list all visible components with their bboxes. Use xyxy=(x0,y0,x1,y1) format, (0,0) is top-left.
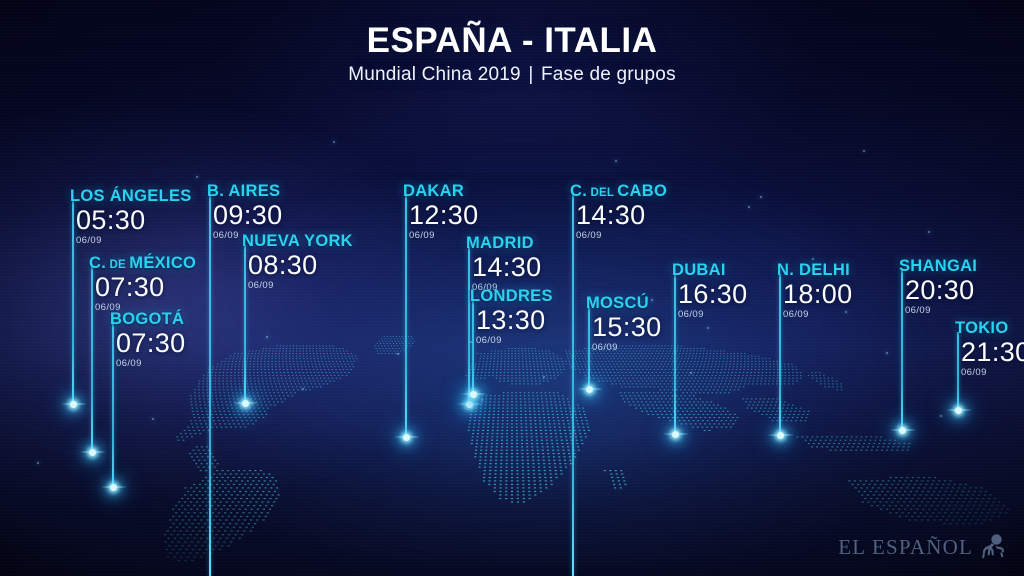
brand-logo: EL ESPAÑOL xyxy=(838,532,1008,562)
city-pin-dot xyxy=(403,434,410,441)
lion-icon xyxy=(978,532,1008,562)
city-pin-dot xyxy=(899,427,906,434)
city-pin-dot xyxy=(955,407,962,414)
city-pin-line xyxy=(72,200,74,404)
city-pin-dot xyxy=(242,400,249,407)
city-pin-line xyxy=(901,270,903,430)
city-pin-dot xyxy=(466,401,473,408)
background-vignette xyxy=(0,0,1024,576)
city-pin-line xyxy=(779,274,781,435)
city-pin-dot xyxy=(672,431,679,438)
city-pin-line xyxy=(957,332,959,410)
city-pin-line xyxy=(405,195,407,437)
city-pin-line xyxy=(91,266,93,452)
city-pin-line xyxy=(468,247,470,404)
city-pin-line xyxy=(209,195,211,576)
city-pin-line xyxy=(244,245,246,403)
city-pin-dot xyxy=(470,391,477,398)
city-pin-line xyxy=(572,195,574,576)
city-pin-dot xyxy=(586,386,593,393)
city-pin-line xyxy=(588,307,590,389)
city-pin-dot xyxy=(110,484,117,491)
city-pin-dot xyxy=(70,401,77,408)
timezone-graphic: ESPAÑA - ITALIA Mundial China 2019 | Fas… xyxy=(0,0,1024,576)
city-pin-dot xyxy=(777,432,784,439)
city-pin-line xyxy=(472,300,474,394)
brand-logo-text: EL ESPAÑOL xyxy=(838,535,973,560)
city-pin-line xyxy=(674,274,676,434)
city-pin-dot xyxy=(89,449,96,456)
city-pin-line xyxy=(112,322,114,487)
